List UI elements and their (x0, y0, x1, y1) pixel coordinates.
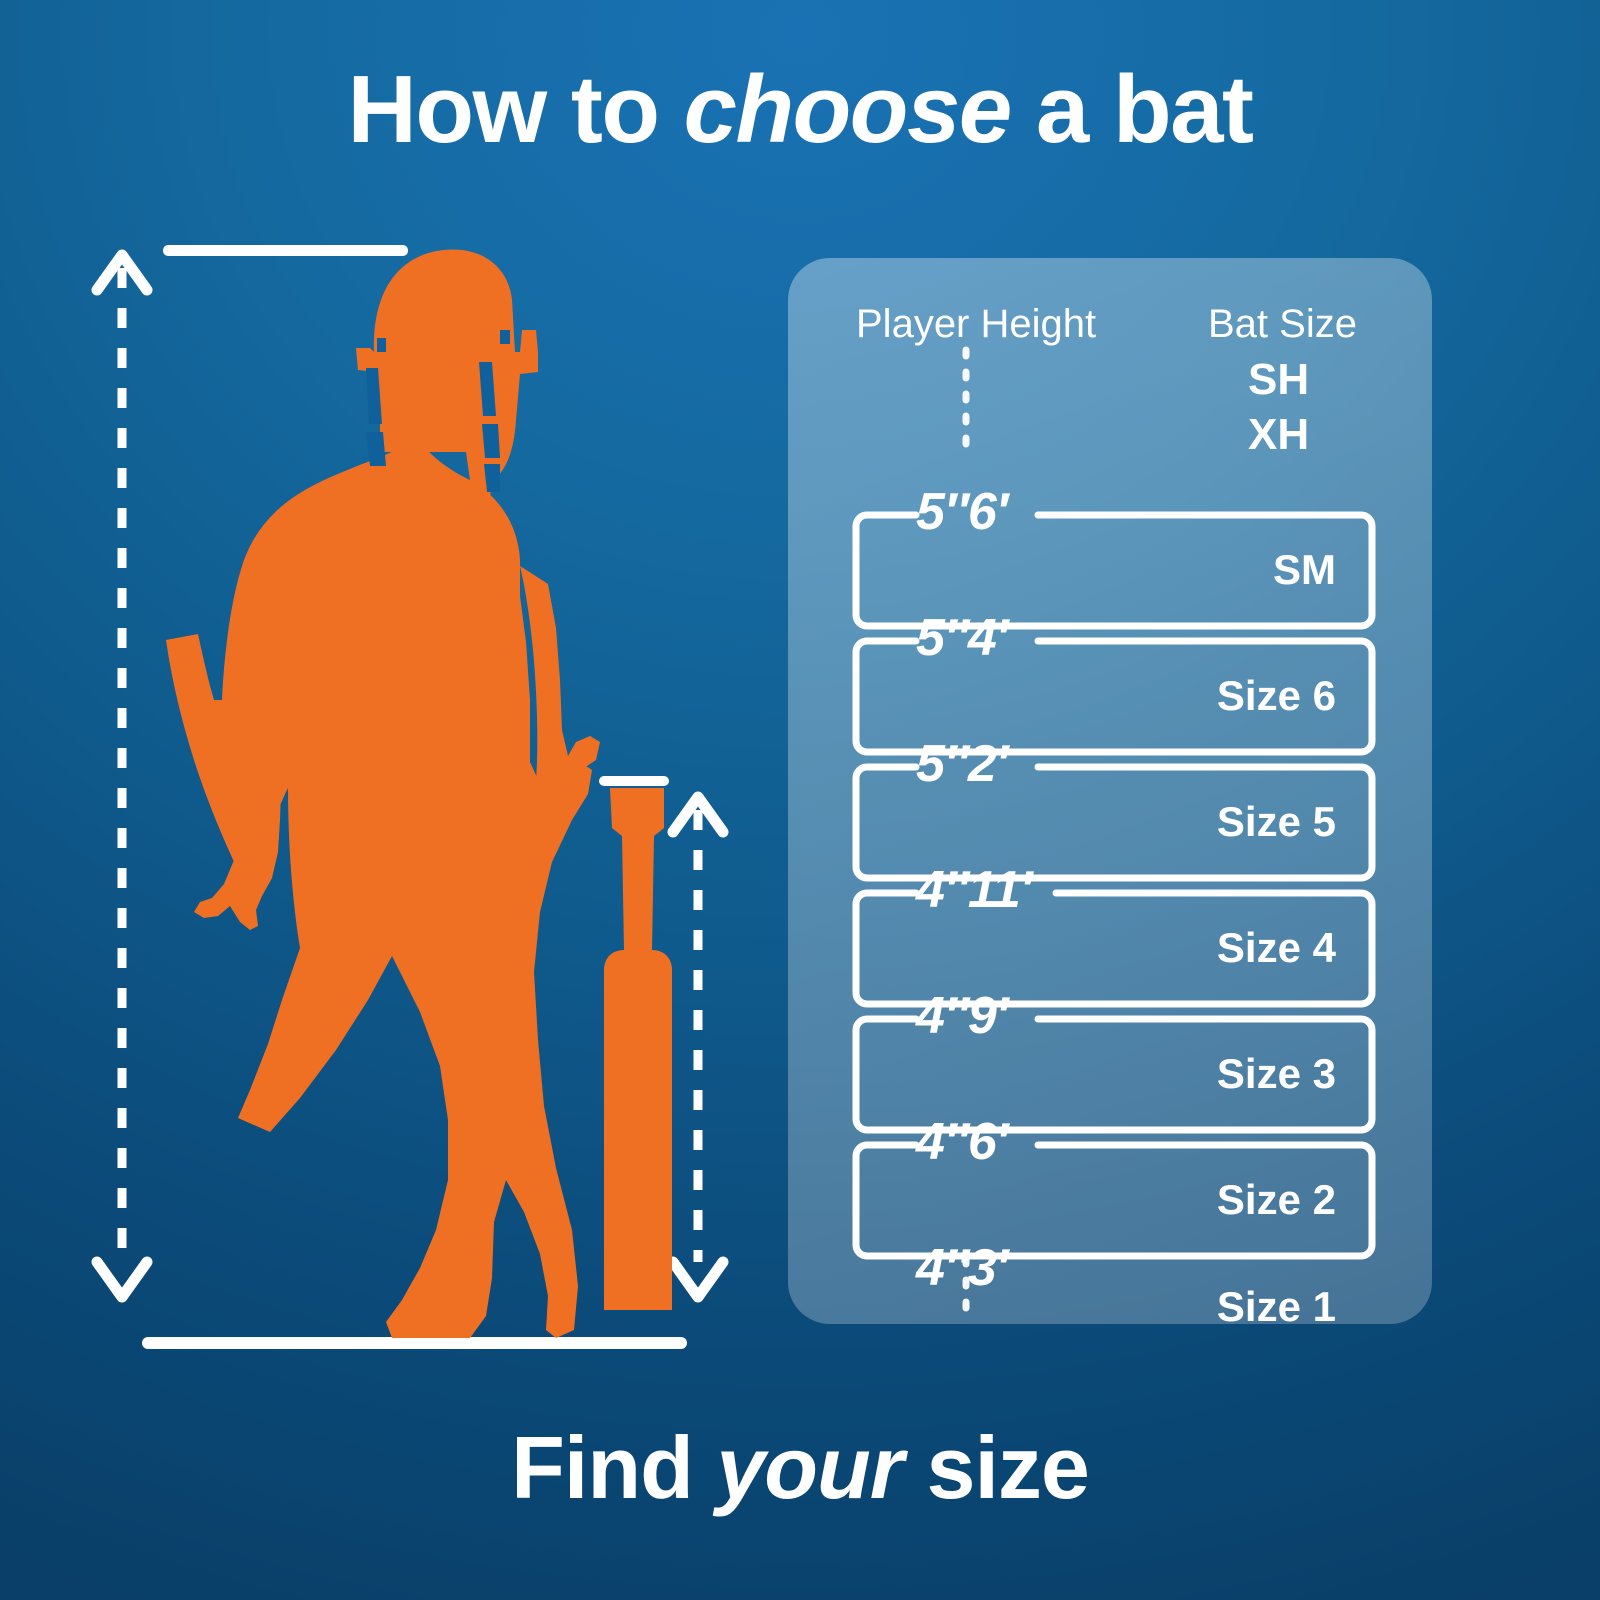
footer-italic-word: your (716, 1418, 903, 1517)
cricket-batsman-silhouette (166, 249, 600, 1338)
cricket-bat (604, 788, 672, 1310)
bat-size-label-5: Size 2 (1078, 1179, 1336, 1221)
bat-size-table-panel: Player Height Bat Size SH XH (788, 258, 1432, 1324)
bat-top-line (599, 776, 669, 786)
bat-height-measure-arrow (673, 797, 723, 1297)
footer-part-1: Find (511, 1418, 716, 1517)
bat-size-label-1: Size 6 (1078, 675, 1336, 717)
infographic-canvas: How to choose a bat (0, 0, 1600, 1600)
table-row-boxes (788, 258, 1432, 1324)
height-mark-3: 4″11′ (916, 864, 1031, 916)
height-mark-0: 5″6′ (916, 486, 1007, 538)
bat-size-label-6: Size 1 (1078, 1286, 1336, 1328)
height-mark-5: 4″6′ (916, 1116, 1007, 1168)
height-mark-6: 4″3′ (916, 1242, 1007, 1294)
footer-tagline: Find your size (0, 1424, 1600, 1512)
player-height-measure-arrow (97, 255, 147, 1297)
height-mark-2: 5″2′ (916, 738, 1007, 790)
footer-part-2: size (903, 1418, 1089, 1517)
head-top-line (163, 245, 408, 256)
bat-size-label-0: SM (1078, 549, 1336, 591)
bat-size-label-4: Size 3 (1078, 1053, 1336, 1095)
bat-size-label-2: Size 5 (1078, 801, 1336, 843)
ground-baseline (142, 1337, 687, 1349)
height-mark-4: 4″9′ (916, 990, 1007, 1042)
bat-size-label-3: Size 4 (1078, 927, 1336, 969)
height-mark-1: 5″4′ (916, 612, 1007, 664)
